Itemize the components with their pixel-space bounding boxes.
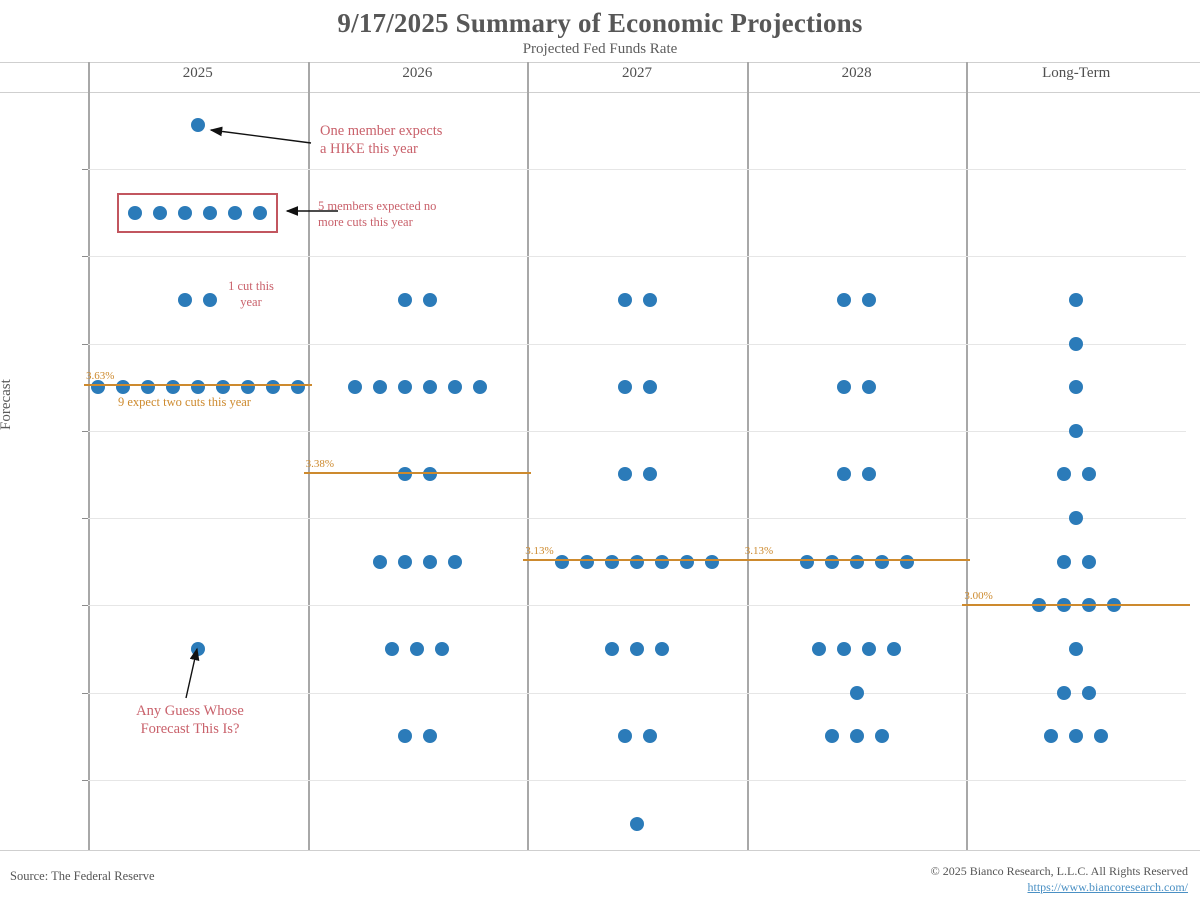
dot	[423, 293, 437, 307]
dot	[398, 467, 412, 481]
dot	[680, 555, 694, 569]
y-axis-label: Forecast	[0, 379, 15, 430]
page-subtitle: Projected Fed Funds Rate	[0, 41, 1200, 58]
dot	[837, 380, 851, 394]
no-more-cuts-highlight-box	[117, 193, 278, 233]
dot	[1069, 424, 1083, 438]
dot	[705, 555, 719, 569]
dot	[241, 380, 255, 394]
annotation-hike: One member expects a HIKE this year	[320, 122, 442, 158]
chart-canvas: 9/17/2025 Summary of Economic Projection…	[0, 0, 1200, 900]
column-header-2025: 2025	[88, 65, 308, 82]
dot	[398, 293, 412, 307]
dot	[1069, 380, 1083, 394]
dot	[423, 729, 437, 743]
column-header-2027: 2027	[527, 65, 747, 82]
dot	[800, 555, 814, 569]
dot	[812, 642, 826, 656]
y-tick-mark-3	[82, 431, 88, 432]
median-label-2027: 3.13%	[525, 545, 553, 557]
dot	[825, 729, 839, 743]
page-title: 9/17/2025 Summary of Economic Projection…	[0, 8, 1200, 39]
dot	[837, 642, 851, 656]
dot	[630, 642, 644, 656]
dot	[643, 467, 657, 481]
median-line-2028	[743, 559, 971, 561]
annotation-no-more-cuts: 5 members expected no more cuts this yea…	[318, 199, 436, 230]
dot	[555, 555, 569, 569]
dot	[423, 555, 437, 569]
gridline-2.75	[88, 693, 1186, 694]
dot	[862, 293, 876, 307]
median-line-2027	[523, 559, 751, 561]
dot	[875, 555, 889, 569]
dot	[373, 380, 387, 394]
dot	[837, 467, 851, 481]
dot	[618, 293, 632, 307]
dot	[825, 555, 839, 569]
dot	[1069, 729, 1083, 743]
dot	[410, 642, 424, 656]
dot	[1069, 642, 1083, 656]
dot	[191, 642, 205, 656]
dot	[862, 380, 876, 394]
dot	[1057, 686, 1071, 700]
y-tick-mark-6	[82, 693, 88, 694]
dot	[435, 642, 449, 656]
gridline-4.25	[88, 169, 1186, 170]
dot	[1057, 467, 1071, 481]
dot	[1044, 729, 1058, 743]
y-tick-mark-0	[82, 169, 88, 170]
dot	[216, 380, 230, 394]
y-tick-mark-7	[82, 780, 88, 781]
dot	[423, 380, 437, 394]
dot	[448, 380, 462, 394]
dot	[398, 555, 412, 569]
dot	[618, 380, 632, 394]
dot	[630, 817, 644, 831]
median-line-2025	[84, 384, 312, 386]
gridline-3.50	[88, 431, 1186, 432]
dot	[850, 729, 864, 743]
dot	[618, 467, 632, 481]
dot	[141, 380, 155, 394]
copyright-note: © 2025 Bianco Research, L.L.C. All Right…	[931, 864, 1188, 879]
biancoresearch-link[interactable]: https://www.biancoresearch.com/	[1027, 880, 1188, 895]
dot	[266, 380, 280, 394]
dot	[398, 729, 412, 743]
median-label-long-term: 3.00%	[964, 590, 992, 602]
dot	[580, 555, 594, 569]
dot	[618, 729, 632, 743]
dot	[166, 380, 180, 394]
median-line-long-term	[962, 604, 1190, 606]
dot	[850, 555, 864, 569]
dot	[116, 380, 130, 394]
dot	[655, 555, 669, 569]
dot	[837, 293, 851, 307]
gridline-3.25	[88, 518, 1186, 519]
column-header-2028: 2028	[747, 65, 967, 82]
median-line-2026	[304, 472, 532, 474]
dot	[473, 380, 487, 394]
column-header-2026: 2026	[308, 65, 528, 82]
dot	[1082, 555, 1096, 569]
header-rule-top	[0, 62, 1200, 63]
dot	[850, 686, 864, 700]
median-label-2026: 3.38%	[306, 458, 334, 470]
dot	[398, 380, 412, 394]
dot	[605, 642, 619, 656]
dot	[1069, 511, 1083, 525]
median-label-2025: 3.63%	[86, 370, 114, 382]
dot	[862, 467, 876, 481]
dot	[448, 555, 462, 569]
dot	[1082, 467, 1096, 481]
dot	[373, 555, 387, 569]
dot	[605, 555, 619, 569]
y-tick-mark-1	[82, 256, 88, 257]
dot	[1057, 555, 1071, 569]
annotation-one-cut: 1 cut this year	[216, 279, 286, 310]
source-note: Source: The Federal Reserve	[10, 869, 155, 884]
y-tick-mark-4	[82, 518, 88, 519]
dot	[1082, 686, 1096, 700]
dot	[1094, 729, 1108, 743]
dot	[385, 642, 399, 656]
dot	[1069, 293, 1083, 307]
dot	[887, 642, 901, 656]
dot	[191, 380, 205, 394]
dot	[423, 467, 437, 481]
dot	[900, 555, 914, 569]
gridline-2.50	[88, 780, 1186, 781]
dot	[630, 555, 644, 569]
dot	[643, 380, 657, 394]
dot	[1069, 337, 1083, 351]
dot	[191, 118, 205, 132]
annotation-two-cuts: 9 expect two cuts this year	[118, 395, 251, 411]
dot	[348, 380, 362, 394]
dot	[875, 729, 889, 743]
column-header-long-term: Long-Term	[966, 65, 1186, 82]
y-tick-mark-5	[82, 605, 88, 606]
annotation-whose-forecast: Any Guess Whose Forecast This Is?	[110, 702, 270, 738]
dot	[655, 642, 669, 656]
dot	[643, 293, 657, 307]
gridline-3.75	[88, 344, 1186, 345]
gridline-4.00	[88, 256, 1186, 257]
y-tick-mark-2	[82, 344, 88, 345]
dot	[862, 642, 876, 656]
dot	[178, 293, 192, 307]
median-label-2028: 3.13%	[745, 545, 773, 557]
dot	[643, 729, 657, 743]
dot	[291, 380, 305, 394]
footer-rule	[0, 850, 1200, 851]
